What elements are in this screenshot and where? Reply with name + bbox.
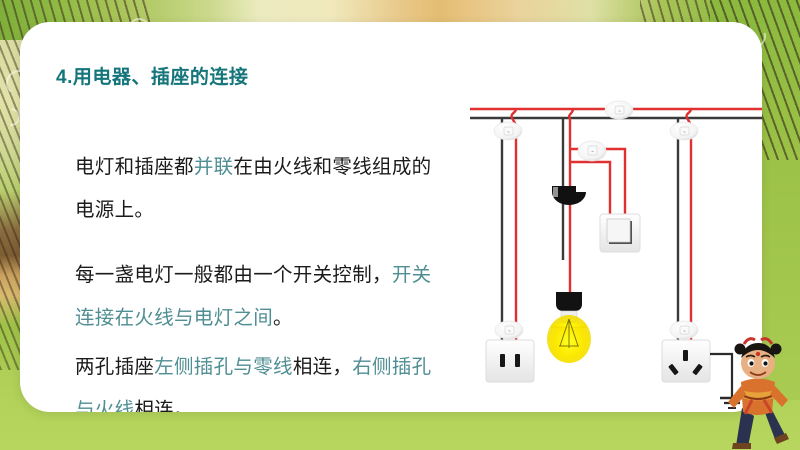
content-card: 4.用电器、插座的连接 电灯和插座都并联在由火线和零线组成的电源上。 每一盏电灯… <box>20 22 762 412</box>
junction-connector: ⌁ <box>578 141 606 161</box>
highlighted-text-run: 左侧插孔与零线 <box>154 356 293 378</box>
svg-text:⌁: ⌁ <box>683 130 686 136</box>
two-hole-socket-icon <box>486 340 534 382</box>
text-run: 相连。 <box>134 399 193 412</box>
paragraph-parallel-connection: 电灯和插座都并联在由火线和零线组成的电源上。 <box>75 146 435 232</box>
paragraph-socket-rule: 两孔插座左侧插孔与零线相连，右侧插孔与火线相连。 <box>75 346 435 412</box>
junction-connector: ⌁ <box>670 321 698 339</box>
junction-connector: ⌁ <box>495 321 523 339</box>
text-run: 。 <box>273 307 293 329</box>
svg-text:⌁: ⌁ <box>591 149 594 155</box>
junction-connector: ⌁ <box>670 122 698 140</box>
ceiling-rose-icon <box>552 186 586 205</box>
text-run: 两孔插座 <box>75 356 154 378</box>
text-run: 每一盏电灯一般都由一个开关控制， <box>75 264 392 286</box>
wiring-diagram: ⌁ ⌁ ⌁ ⌁ ⌁ <box>460 92 762 412</box>
text-run: 电灯和插座都 <box>75 156 194 178</box>
highlighted-text-run: 并联 <box>194 156 234 178</box>
left-drop-wires <box>502 109 516 340</box>
wall-switch-icon <box>600 214 640 252</box>
junction-connector: ⌁ <box>494 122 522 140</box>
nezha-mascot-character <box>722 330 794 450</box>
svg-text:⌁: ⌁ <box>683 329 686 335</box>
three-hole-socket-icon <box>662 340 710 382</box>
svg-text:⌁: ⌁ <box>508 329 511 335</box>
svg-text:⌁: ⌁ <box>507 130 510 136</box>
paragraph-switch-rule: 每一盏电灯一般都由一个开关控制，开关连接在火线与电灯之间。 <box>75 254 435 340</box>
page-title: 4.用电器、插座的连接 <box>56 62 248 89</box>
text-run: 相连， <box>293 356 352 378</box>
light-bulb-icon <box>547 292 591 363</box>
svg-text:⌁: ⌁ <box>618 109 621 115</box>
right-drop-wires <box>678 109 691 340</box>
junction-connector: ⌁ <box>605 101 633 119</box>
